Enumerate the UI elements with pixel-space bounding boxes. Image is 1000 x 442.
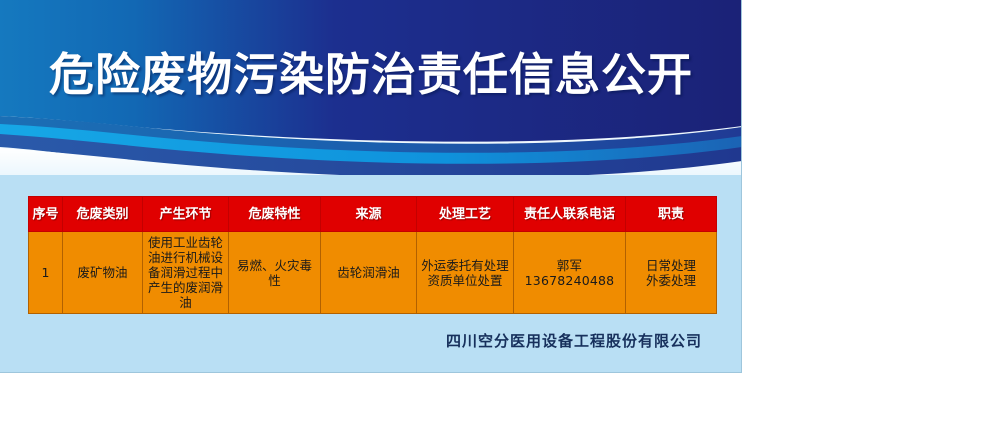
cell-characteristics: 易燃、火灾毒性 bbox=[229, 232, 321, 314]
hazardous-waste-table: 序号 危废类别 产生环节 危废特性 来源 处理工艺 责任人联系电话 职责 1 废… bbox=[28, 196, 717, 314]
column-header-stage: 产生环节 bbox=[143, 197, 229, 232]
column-header-contact: 责任人联系电话 bbox=[514, 197, 626, 232]
column-header-process: 处理工艺 bbox=[417, 197, 514, 232]
cell-index: 1 bbox=[29, 232, 63, 314]
column-header-source: 来源 bbox=[321, 197, 417, 232]
cell-process: 外运委托有处理资质单位处置 bbox=[417, 232, 514, 314]
page-title: 危险废物污染防治责任信息公开 bbox=[0, 48, 742, 102]
information-poster: 危险废物污染防治责任信息公开 序号 危废类别 产生环节 危废特性 来源 处理工艺… bbox=[0, 0, 742, 373]
table-row: 1 废矿物油 使用工业齿轮油进行机械设备润滑过程中产生的废润滑油 易燃、火灾毒性… bbox=[29, 232, 717, 314]
company-name: 四川空分医用设备工程股份有限公司 bbox=[28, 330, 716, 351]
table-header-row: 序号 危废类别 产生环节 危废特性 来源 处理工艺 责任人联系电话 职责 bbox=[29, 197, 717, 232]
cell-contact: 郭军13678240488 bbox=[514, 232, 626, 314]
poster-banner: 危险废物污染防治责任信息公开 bbox=[0, 0, 742, 175]
cell-source: 齿轮润滑油 bbox=[321, 232, 417, 314]
cell-duty: 日常处理外委处理 bbox=[626, 232, 717, 314]
column-header-characteristics: 危废特性 bbox=[229, 197, 321, 232]
column-header-category: 危废类别 bbox=[63, 197, 143, 232]
column-header-index: 序号 bbox=[29, 197, 63, 232]
cell-category: 废矿物油 bbox=[63, 232, 143, 314]
cell-stage: 使用工业齿轮油进行机械设备润滑过程中产生的废润滑油 bbox=[143, 232, 229, 314]
column-header-duty: 职责 bbox=[626, 197, 717, 232]
